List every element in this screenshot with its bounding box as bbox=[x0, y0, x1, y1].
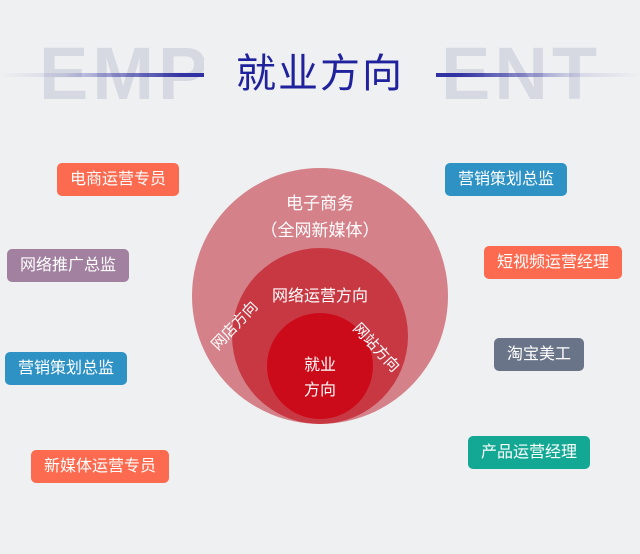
header: EMPLOYMENT 就业方向 bbox=[0, 28, 640, 120]
badge-right-3[interactable]: 淘宝美工 bbox=[494, 338, 584, 371]
concentric-circle-diagram: 电子商务 （全网新媒体） 网络运营方向 就业 方向 网店方向 网站方向 bbox=[192, 168, 448, 478]
page-title: 就业方向 bbox=[0, 28, 640, 120]
outer-circle-label-line2: （全网新媒体） bbox=[192, 217, 448, 244]
inner-circle-label: 就业 方向 bbox=[192, 353, 448, 403]
outer-circle-label-line1: 电子商务 bbox=[192, 190, 448, 217]
badge-right-2[interactable]: 短视频运营经理 bbox=[484, 246, 622, 279]
inner-circle-label-line2: 方向 bbox=[192, 378, 448, 403]
badge-left-2[interactable]: 网络推广总监 bbox=[7, 249, 129, 282]
middle-circle-label: 网络运营方向 bbox=[192, 286, 448, 308]
badge-left-3[interactable]: 营销策划总监 bbox=[5, 352, 127, 385]
badge-left-4[interactable]: 新媒体运营专员 bbox=[31, 450, 169, 483]
middle-circle-label-line1: 网络运营方向 bbox=[192, 286, 448, 308]
outer-circle-label: 电子商务 （全网新媒体） bbox=[192, 190, 448, 244]
badge-right-4[interactable]: 产品运营经理 bbox=[468, 436, 590, 469]
badge-left-1[interactable]: 电商运营专员 bbox=[57, 163, 179, 196]
badge-right-1[interactable]: 营销策划总监 bbox=[445, 163, 567, 196]
inner-circle-label-line1: 就业 bbox=[192, 353, 448, 378]
infographic-canvas: EMPLOYMENT 就业方向 电子商务 （全网新媒体） 网络运营方向 就业 方… bbox=[0, 0, 640, 554]
